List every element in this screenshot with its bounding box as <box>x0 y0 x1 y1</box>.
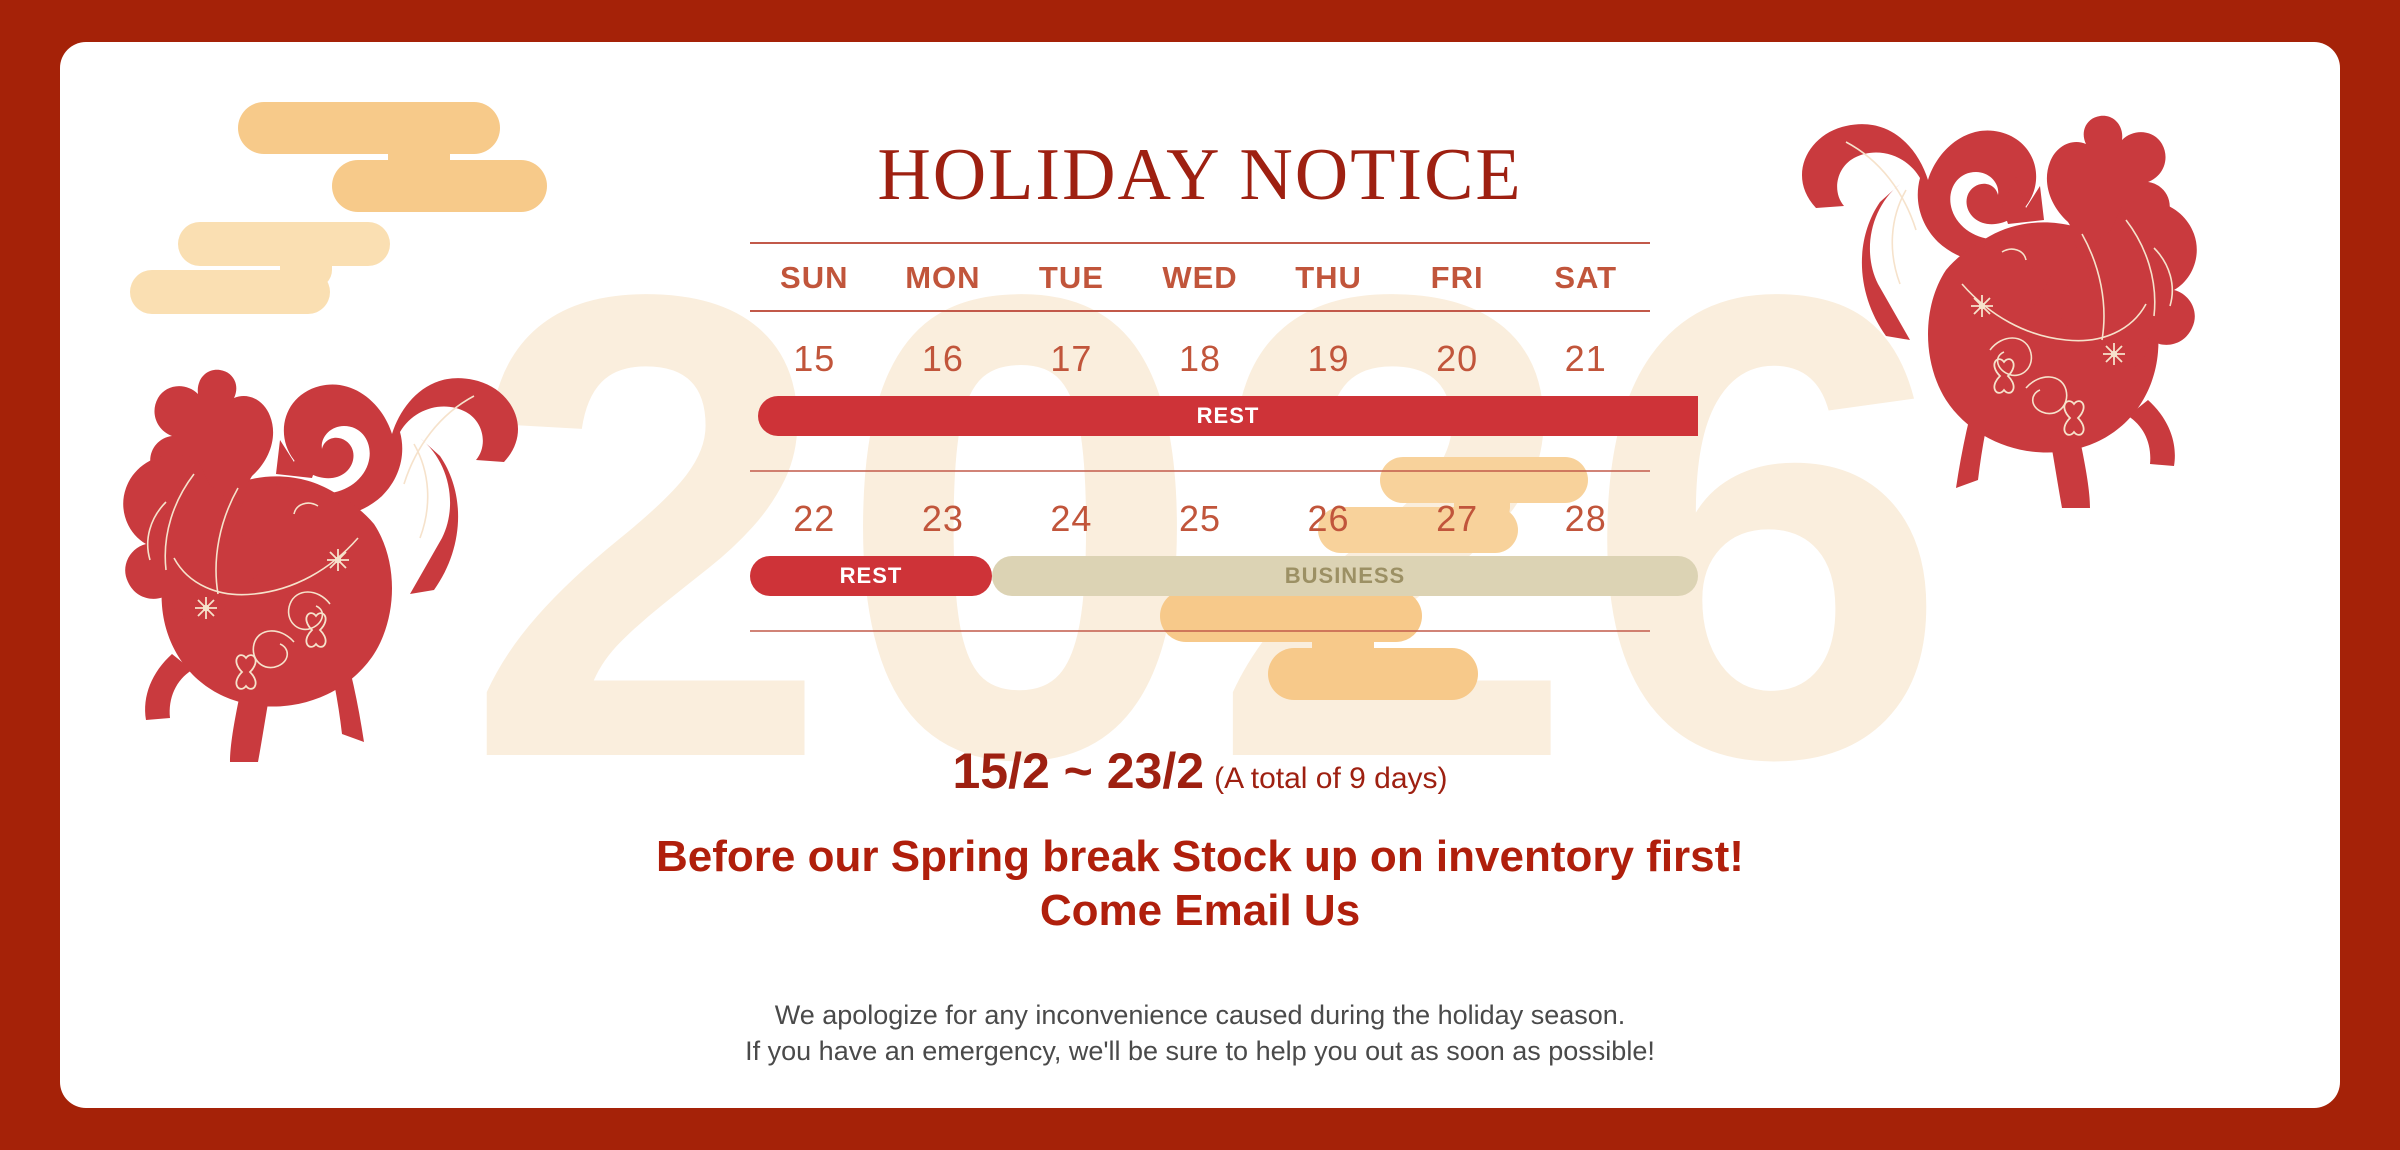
cloud-bar-lower <box>130 270 330 314</box>
day-cell[interactable]: 18 <box>1136 338 1265 380</box>
date-range-total: (A total of 9 days) <box>1214 762 1447 795</box>
weekday-thu: THU <box>1264 260 1393 296</box>
day-cell[interactable]: 27 <box>1393 498 1522 540</box>
day-cell[interactable]: 24 <box>1007 498 1136 540</box>
week-gap <box>750 436 1650 470</box>
calendar-week-1: 15 16 17 18 19 20 21 REST <box>750 312 1650 436</box>
weekday-wed: WED <box>1136 260 1265 296</box>
headline-line-2: Come Email Us <box>60 884 2340 938</box>
day-cell[interactable]: 28 <box>1521 498 1650 540</box>
day-cell[interactable]: 23 <box>879 498 1008 540</box>
footnote-line-2: If you have an emergency, we'll be sure … <box>60 1033 2340 1069</box>
day-cell[interactable]: 15 <box>750 338 879 380</box>
footnote-line-1: We apologize for any inconvenience cause… <box>60 997 2340 1033</box>
business-bar[interactable]: BUSINESS <box>992 556 1698 596</box>
calendar-week-2: 22 23 24 25 26 27 28 BUSINESS REST <box>750 472 1650 596</box>
footnote: We apologize for any inconvenience cause… <box>60 997 2340 1070</box>
weekday-sat: SAT <box>1521 260 1650 296</box>
day-cell[interactable]: 25 <box>1136 498 1265 540</box>
page-title: HOLIDAY NOTICE <box>60 138 2340 212</box>
weekday-header-row: SUN MON TUE WED THU FRI SAT <box>750 244 1650 310</box>
week-1-bars: REST <box>750 396 1650 436</box>
day-cell[interactable]: 17 <box>1007 338 1136 380</box>
calendar: SUN MON TUE WED THU FRI SAT 15 16 17 18 … <box>750 242 1650 632</box>
week-2-days: 22 23 24 25 26 27 28 <box>750 498 1650 540</box>
day-cell[interactable]: 21 <box>1521 338 1650 380</box>
week-2-bars: BUSINESS REST <box>750 556 1650 596</box>
horse-bottom-left <box>100 342 570 762</box>
weekday-tue: TUE <box>1007 260 1136 296</box>
date-range-value: 15/2 ~ 23/2 <box>952 743 1204 799</box>
day-cell[interactable]: 16 <box>879 338 1008 380</box>
date-range: 15/2 ~ 23/2(A total of 9 days) <box>60 742 2340 800</box>
cloud-mid-left <box>130 222 390 314</box>
calendar-rule-bottom <box>750 630 1650 632</box>
day-cell[interactable]: 22 <box>750 498 879 540</box>
weekday-mon: MON <box>879 260 1008 296</box>
day-cell[interactable]: 20 <box>1393 338 1522 380</box>
headline-line-1: Before our Spring break Stock up on inve… <box>60 830 2340 884</box>
rest-bar[interactable]: REST <box>758 396 1698 436</box>
weekday-fri: FRI <box>1393 260 1522 296</box>
cloud-bar-lower <box>1268 648 1478 700</box>
weekday-sun: SUN <box>750 260 879 296</box>
rest-bar[interactable]: REST <box>750 556 992 596</box>
headline: Before our Spring break Stock up on inve… <box>60 830 2340 937</box>
day-cell[interactable]: 26 <box>1264 498 1393 540</box>
poster-card: 2026 <box>60 42 2340 1108</box>
day-cell[interactable]: 19 <box>1264 338 1393 380</box>
week-gap-bottom <box>750 596 1650 630</box>
week-1-days: 15 16 17 18 19 20 21 <box>750 338 1650 380</box>
